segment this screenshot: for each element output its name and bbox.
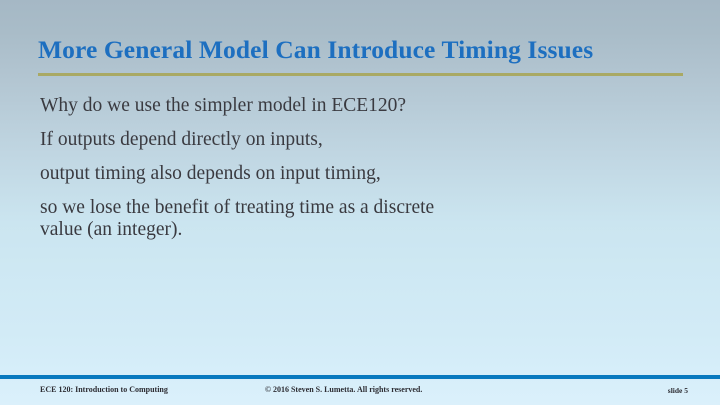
- footer-course-label: ECE 120: Introduction to Computing: [40, 385, 168, 394]
- page-title: More General Model Can Introduce Timing …: [38, 35, 688, 65]
- title-underline-rule: [38, 73, 683, 76]
- slide-canvas: More General Model Can Introduce Timing …: [0, 0, 720, 405]
- body-line-2: If outputs depend directly on inputs,: [40, 129, 640, 150]
- footer-slide-number: slide 5: [668, 386, 688, 395]
- body-line-3: output timing also depends on input timi…: [40, 163, 640, 184]
- slide-body: Why do we use the simpler model in ECE12…: [40, 95, 640, 241]
- footer-copyright-label: © 2016 Steven S. Lumetta. All rights res…: [265, 385, 422, 394]
- footer-divider-rule: [0, 375, 720, 379]
- body-line-1: Why do we use the simpler model in ECE12…: [40, 95, 640, 116]
- slide-footer: ECE 120: Introduction to Computing © 201…: [0, 383, 720, 405]
- body-line-4: so we lose the benefit of treating time …: [40, 197, 470, 241]
